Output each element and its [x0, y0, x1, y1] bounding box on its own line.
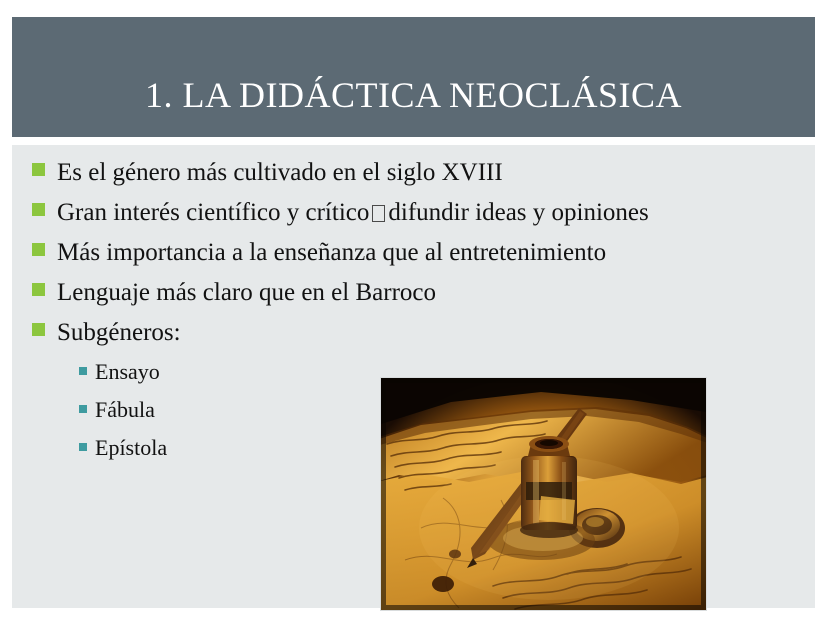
square-bullet-icon [32, 283, 45, 296]
square-bullet-icon [32, 243, 45, 256]
inkwell-quill-parchment-photo [381, 378, 706, 610]
missing-glyph-box-icon [372, 205, 385, 222]
list-item: Gran interés científico y críticodifundi… [32, 195, 792, 231]
list-item: Subgéneros: [32, 315, 792, 351]
list-item-label: Gran interés científico y críticodifundi… [57, 195, 649, 231]
square-bullet-icon [32, 203, 45, 216]
list-item-label: Más importancia a la enseñanza que al en… [57, 235, 606, 271]
list-item-label: Epístola [95, 431, 167, 465]
small-square-bullet-icon [79, 405, 87, 413]
list-item-label-prefix: Gran interés científico y crítico [57, 199, 369, 226]
slide-title-band: 1. LA DIDÁCTICA NEOCLÁSICA [12, 17, 815, 137]
list-item-label: Es el género más cultivado en el siglo X… [57, 155, 503, 191]
list-item-label: Lenguaje más claro que en el Barroco [57, 275, 436, 311]
list-item-label: Fábula [95, 393, 155, 427]
square-bullet-icon [32, 323, 45, 336]
small-square-bullet-icon [79, 367, 87, 375]
list-item-label-suffix: difundir ideas y opiniones [388, 199, 648, 226]
square-bullet-icon [32, 163, 45, 176]
small-square-bullet-icon [79, 443, 87, 451]
list-item: Lenguaje más claro que en el Barroco [32, 275, 792, 311]
list-item: Es el género más cultivado en el siglo X… [32, 155, 792, 191]
list-item-label: Subgéneros: [57, 315, 181, 351]
presentation-slide: 1. LA DIDÁCTICA NEOCLÁSICA Es el género … [0, 0, 828, 621]
slide-content-panel: Es el género más cultivado en el siglo X… [12, 145, 815, 608]
list-item: Más importancia a la enseñanza que al en… [32, 235, 792, 271]
list-item-label: Ensayo [95, 355, 160, 389]
page-title: 1. LA DIDÁCTICA NEOCLÁSICA [145, 77, 682, 137]
